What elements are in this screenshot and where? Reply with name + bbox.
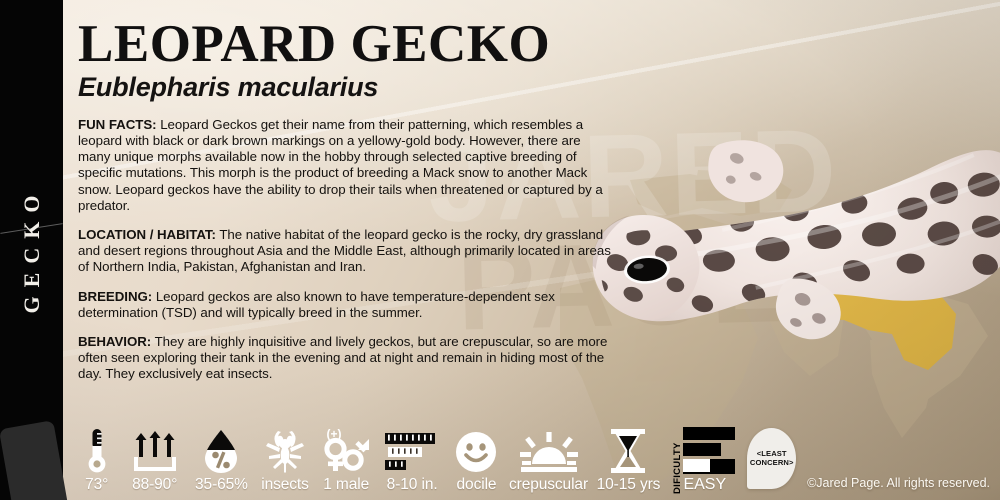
section-breeding: BREEDING: Leopard geckos are also known … — [78, 289, 615, 321]
stat-temperament: docile — [451, 427, 502, 494]
difficulty-vertical-label: DIFICULTY — [673, 434, 683, 494]
difficulty-bar-easy — [683, 459, 735, 474]
hourglass-icon — [609, 427, 647, 473]
care-stats-row: 73° 88-90° — [76, 406, 796, 494]
sidebar-vertical-label: GECKO — [19, 187, 45, 314]
section-body: Leopard Geckos get their name from their… — [78, 117, 603, 213]
difficulty-bar-medium — [683, 443, 721, 456]
section-heading: BEHAVIOR: — [78, 334, 151, 349]
left-sidebar: GECKO — [0, 0, 63, 500]
thermometer-icon — [86, 427, 108, 473]
stat-label: crepuscular — [509, 476, 588, 494]
conservation-status-badge: <LEAST CONCERN> — [747, 428, 796, 489]
stat-temperature-basking: 88-90° — [124, 427, 185, 494]
section-heading: FUN FACTS: — [78, 117, 157, 132]
section-heading: LOCATION / HABITAT: — [78, 227, 216, 242]
sunset-icon — [520, 427, 578, 473]
section-behavior: BEHAVIOR: They are highly inquisitive an… — [78, 334, 615, 383]
stat-size: 8-10 in. — [380, 427, 444, 494]
sidebar-shadow-block — [0, 420, 72, 500]
difficulty-bars — [683, 427, 735, 474]
scientific-name: Eublepharis macularius — [78, 73, 638, 103]
smiley-icon — [455, 427, 497, 473]
difficulty-bar-hard — [683, 427, 735, 440]
stat-humidity: 35-65% — [192, 427, 251, 494]
stat-sex-ratio: (+) 1 male — [319, 427, 373, 494]
section-body: They are highly inquisitive and lively g… — [78, 334, 607, 381]
stat-label: 8-10 in. — [387, 476, 438, 494]
heat-arrows-icon — [132, 427, 178, 473]
stat-label: 10-15 yrs — [597, 476, 661, 494]
stat-label: 88-90° — [132, 476, 177, 494]
conservation-line-2: CONCERN> — [750, 458, 794, 467]
stat-diet: insects — [258, 427, 312, 494]
stat-temperature-low: 73° — [76, 427, 117, 494]
stat-label: insects — [261, 476, 309, 494]
stat-label: docile — [457, 476, 497, 494]
insect-icon — [265, 427, 305, 473]
page-title: LEOPARD GECKO — [78, 18, 638, 71]
difficulty-meter: DIFICULTY EASY — [673, 427, 736, 494]
sex-symbols-icon: (+) — [321, 427, 371, 473]
species-info-card: JARED PAGE — [0, 0, 1000, 500]
content-column: LEOPARD GECKO Eublepharis macularius FUN… — [78, 0, 638, 383]
copyright-text: ©Jared Page. All rights reserved. — [807, 476, 990, 490]
section-heading: BREEDING: — [78, 289, 152, 304]
stat-label: 35-65% — [195, 476, 248, 494]
stat-lifespan: 10-15 yrs — [595, 427, 662, 494]
stat-label: 1 male — [323, 476, 369, 494]
difficulty-scale-label: EASY — [683, 476, 726, 494]
section-location-habitat: LOCATION / HABITAT: The native habitat o… — [78, 227, 615, 276]
ruler-icon — [384, 427, 440, 473]
stat-activity: crepuscular — [509, 427, 588, 494]
conservation-line-1: <LEAST — [757, 449, 787, 458]
humidity-drop-icon — [203, 427, 239, 473]
stat-label: 73° — [85, 476, 108, 494]
section-fun-facts: FUN FACTS: Leopard Geckos get their name… — [78, 117, 615, 214]
